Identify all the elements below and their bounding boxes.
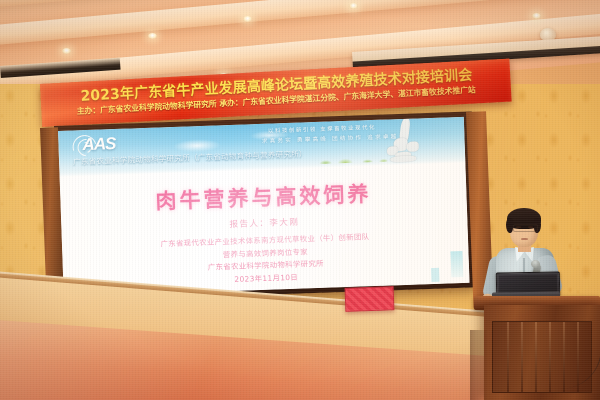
slide-edge-artifact (431, 268, 439, 282)
presenter-eye (516, 226, 521, 228)
slide-edge-artifact (450, 251, 463, 277)
institute-logo-mark: AAS (82, 134, 116, 155)
presenter-mouth (521, 238, 528, 240)
stage-red-box-prop (345, 286, 395, 312)
projected-slide: 以科技创新引领 支撑畜牧业现代化 求真务实 勇攀高峰 团结协作 追求卓越 AAS… (58, 117, 470, 297)
podium-shadow (470, 330, 488, 400)
ceiling-downlight-icon (62, 48, 71, 54)
presenter-eye (528, 226, 533, 228)
ceiling-downlight-icon (349, 3, 358, 9)
presenter-hair-side (506, 218, 513, 233)
grass-decoration-icon (317, 153, 387, 164)
slide-body: 肉牛营养与高效饲养 报告人：李大刚 广东省现代农业产业技术体系南方现代草牧业（牛… (60, 163, 470, 297)
ceiling-downlight-icon (532, 13, 541, 19)
conference-photo-scene: 2023年广东省牛产业发展高峰论坛暨高效养殖技术对接培训会 主办：广东省农业科学… (0, 0, 600, 400)
ceiling-downlight-icon (243, 16, 252, 22)
five-goats-statue-icon (380, 117, 430, 165)
ceiling-downlight-icon (148, 33, 157, 39)
